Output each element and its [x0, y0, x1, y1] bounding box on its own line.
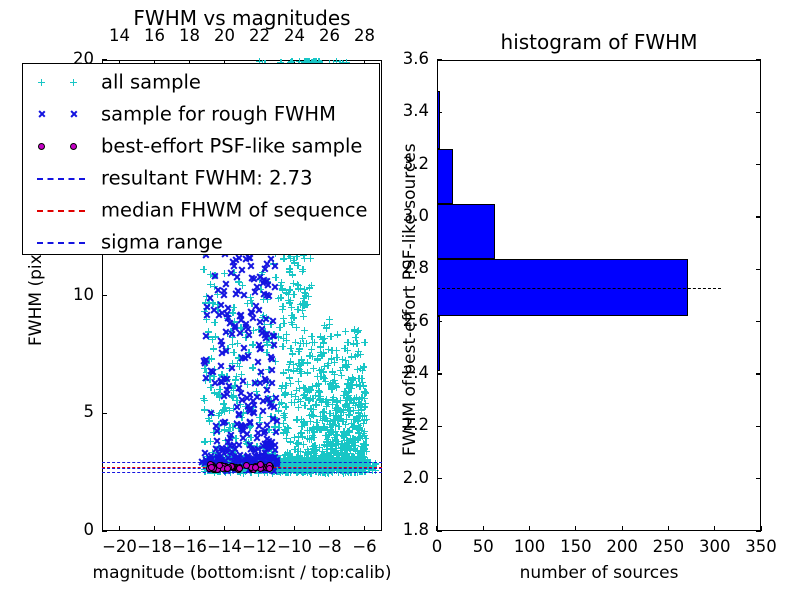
x-bottom-tick — [154, 526, 155, 531]
scatter-point-all-sample — [357, 403, 364, 410]
left-yaxis-label: FWHM (pix) — [26, 247, 46, 345]
scatter-point-all-sample — [297, 301, 304, 308]
scatter-point-all-sample — [333, 354, 340, 361]
scatter-point-all-sample — [354, 351, 361, 358]
x-bottom-tick — [364, 526, 365, 531]
x-top-tick-label: 20 — [214, 26, 235, 45]
scatter-point-all-sample — [350, 407, 357, 414]
scatter-point-all-sample — [358, 375, 365, 382]
scatter-point-all-sample — [339, 440, 346, 447]
x-bottom-tick — [329, 526, 330, 531]
scatter-point-all-sample — [281, 410, 288, 417]
x-bottom-tick-label: −16 — [172, 537, 207, 556]
scatter-point-rough-sample — [270, 283, 278, 291]
hist-x-tick-label: 300 — [699, 537, 731, 556]
scatter-point-rough-sample — [235, 384, 243, 392]
scatter-point-rough-sample — [223, 386, 231, 394]
figure-canvas: FWHM vs magnitudes1416182022242628−20−18… — [0, 0, 800, 600]
hist-y-tick-label: 3.4 — [403, 101, 429, 120]
hist-y-tick-right — [756, 164, 761, 165]
scatter-point-all-sample — [326, 421, 333, 428]
hist-x-tick-label: 250 — [653, 537, 685, 556]
scatter-point-rough-sample — [231, 290, 239, 298]
hist-y-tick-right — [756, 530, 761, 531]
scatter-point-all-sample — [295, 282, 302, 289]
scatter-point-all-sample — [221, 408, 228, 415]
scatter-point-rough-sample — [227, 364, 235, 372]
scatter-point-all-sample — [278, 385, 285, 392]
scatter-point-rough-sample — [249, 314, 257, 322]
plus-icon — [70, 79, 77, 86]
legend-label: resultant FWHM: 2.73 — [101, 167, 313, 190]
scatter-point-rough-sample — [214, 450, 222, 458]
x-top-tick-label: 26 — [319, 26, 340, 45]
scatter-point-all-sample — [319, 336, 326, 343]
scatter-point-rough-sample — [255, 306, 263, 314]
scatter-point-all-sample — [220, 400, 227, 407]
hist-x-tick — [575, 526, 576, 531]
scatter-point-all-sample — [244, 300, 251, 307]
scatter-point-all-sample — [286, 374, 293, 381]
scatter-point-rough-sample — [269, 317, 277, 325]
scatter-point-all-sample — [293, 416, 300, 423]
scatter-point-all-sample — [342, 328, 349, 335]
scatter-point-all-sample — [210, 345, 217, 352]
scatter-point-all-sample — [316, 367, 323, 374]
dot-icon — [38, 143, 45, 150]
hist-y-tick — [437, 59, 442, 60]
scatter-point-all-sample — [211, 319, 218, 326]
x-bottom-tick-label: −20 — [102, 537, 137, 556]
hist-y-tick-right — [756, 269, 761, 270]
scatter-point-all-sample — [359, 413, 366, 420]
scatter-point-rough-sample — [268, 379, 276, 387]
scatter-point-all-sample — [300, 384, 307, 391]
scatter-point-all-sample — [301, 327, 308, 334]
hist-x-tick-label: 50 — [473, 537, 494, 556]
hist-y-tick-right — [756, 321, 761, 322]
scatter-point-all-sample — [306, 352, 313, 359]
scatter-point-all-sample — [301, 391, 308, 398]
scatter-point-all-sample — [280, 315, 287, 322]
y-tick-label: 5 — [84, 402, 95, 421]
y-tick-label: 10 — [73, 285, 94, 304]
scatter-point-all-sample — [334, 331, 341, 338]
hist-x-tick-label: 350 — [745, 537, 777, 556]
scatter-point-rough-sample — [232, 273, 240, 281]
scatter-point-rough-sample — [216, 378, 224, 386]
hist-y-tick-label: 2.0 — [403, 468, 429, 487]
scatter-point-rough-sample — [268, 366, 276, 374]
legend-entry[interactable]: sample for rough FWHM — [23, 98, 379, 130]
hist-y-tick — [437, 373, 442, 374]
legend: all samplesample for rough FWHMbest-effo… — [22, 63, 380, 255]
x-bottom-tick-label: −12 — [242, 537, 277, 556]
scatter-point-rough-sample — [236, 312, 244, 320]
scatter-point-rough-sample — [221, 280, 229, 288]
x-bottom-tick — [294, 526, 295, 531]
scatter-point-all-sample — [351, 437, 358, 444]
scatter-point-all-sample — [297, 448, 304, 455]
scatter-point-all-sample — [285, 425, 292, 432]
scatter-point-rough-sample — [257, 344, 265, 352]
cross-icon — [37, 110, 45, 118]
scatter-point-all-sample — [316, 396, 323, 403]
scatter-point-rough-sample — [268, 332, 276, 340]
scatter-point-all-sample — [313, 382, 320, 389]
x-top-tick-label: 24 — [284, 26, 305, 45]
scatter-point-all-sample — [328, 347, 335, 354]
right-plot-title: histogram of FWHM — [501, 30, 698, 54]
scatter-point-rough-sample — [245, 407, 253, 415]
x-top-tick-label: 28 — [354, 26, 375, 45]
scatter-point-all-sample — [361, 432, 368, 439]
scatter-point-rough-sample — [262, 386, 270, 394]
right-yaxis-label: FWHM of best-effort PSF-like sources — [400, 143, 420, 456]
scatter-point-rough-sample — [253, 452, 261, 460]
hist-y-tick-label: 3.6 — [403, 49, 429, 68]
x-bottom-tick-label: −10 — [277, 537, 312, 556]
scatter-point-rough-sample — [241, 320, 249, 328]
x-top-tick-label: 16 — [144, 26, 165, 45]
x-bottom-tick-label: −18 — [137, 537, 172, 556]
legend-entry[interactable]: resultant FWHM: 2.73 — [23, 162, 379, 194]
scatter-point-rough-sample — [239, 434, 247, 442]
dashed-blue-line-icon — [37, 178, 85, 180]
scatter-point-rough-sample — [235, 410, 243, 418]
scatter-point-all-sample — [284, 449, 291, 456]
scatter-point-all-sample — [304, 435, 311, 442]
histogram-bar — [437, 204, 495, 259]
histogram-bar — [437, 316, 440, 371]
scatter-point-rough-sample — [267, 353, 275, 361]
scatter-point-all-sample — [346, 385, 353, 392]
scatter-point-rough-sample — [253, 358, 261, 366]
left-xaxis-label: magnitude (bottom:isnt / top:calib) — [93, 563, 392, 583]
scatter-point-all-sample — [200, 266, 207, 273]
scatter-point-rough-sample — [270, 262, 278, 270]
x-bottom-tick-label: −8 — [317, 537, 341, 556]
hist-y-tick-right — [756, 373, 761, 374]
scatter-point-all-sample — [334, 407, 341, 414]
scatter-point-rough-sample — [253, 283, 261, 291]
scatter-point-all-sample — [279, 306, 286, 313]
scatter-point-rough-sample — [237, 396, 245, 404]
scatter-point-all-sample — [295, 433, 302, 440]
scatter-point-psf-sample — [208, 464, 215, 471]
scatter-point-rough-sample — [265, 443, 273, 451]
scatter-point-all-sample — [356, 424, 363, 431]
scatter-point-psf-sample — [252, 464, 259, 471]
scatter-point-rough-sample — [271, 428, 279, 436]
x-top-tick-label: 18 — [179, 26, 200, 45]
scatter-point-all-sample — [300, 313, 307, 320]
hist-x-tick — [622, 526, 623, 531]
hist-x-tick — [529, 526, 530, 531]
scatter-point-all-sample — [318, 352, 325, 359]
scatter-point-rough-sample — [245, 419, 253, 427]
legend-label: all sample — [101, 71, 201, 94]
scatter-point-rough-sample — [217, 301, 225, 309]
scatter-point-rough-sample — [258, 407, 266, 415]
hist-y-tick-right — [756, 216, 761, 217]
histogram-bar — [437, 91, 440, 149]
scatter-point-psf-sample — [224, 465, 231, 472]
scatter-point-all-sample — [314, 373, 321, 380]
scatter-point-rough-sample — [211, 272, 219, 280]
x-top-tick-label: 14 — [109, 26, 130, 45]
hist-y-tick — [437, 426, 442, 427]
scatter-point-rough-sample — [219, 291, 227, 299]
x-bottom-tick — [119, 526, 120, 531]
scatter-point-all-sample — [330, 429, 337, 436]
scatter-point-rough-sample — [216, 362, 224, 370]
x-bottom-tick — [224, 526, 225, 531]
scatter-point-all-sample — [301, 402, 308, 409]
scatter-point-all-sample — [295, 441, 302, 448]
scatter-point-rough-sample — [249, 397, 257, 405]
scatter-point-all-sample — [296, 366, 303, 373]
scatter-point-rough-sample — [270, 341, 278, 349]
scatter-point-rough-sample — [244, 352, 252, 360]
scatter-point-all-sample — [305, 293, 312, 300]
dashdot-blue-line-icon — [37, 242, 85, 244]
legend-entry[interactable]: sigma range — [23, 226, 379, 258]
plus-icon — [38, 79, 45, 86]
scatter-point-rough-sample — [206, 294, 214, 302]
scatter-point-all-sample — [236, 363, 243, 370]
scatter-point-all-sample — [348, 420, 355, 427]
scatter-point-rough-sample — [237, 425, 245, 433]
scatter-point-rough-sample — [248, 274, 256, 282]
legend-entry[interactable]: all sample — [23, 66, 379, 98]
scatter-point-all-sample — [283, 337, 290, 344]
histogram-bar — [437, 149, 453, 204]
scatter-point-all-sample — [286, 299, 293, 306]
scatter-point-rough-sample — [270, 403, 278, 411]
scatter-point-rough-sample — [221, 328, 229, 336]
scatter-point-all-sample — [346, 395, 353, 402]
dot-icon — [70, 143, 77, 150]
hist-x-tick-label: 100 — [514, 537, 546, 556]
scatter-point-rough-sample — [262, 291, 270, 299]
scatter-point-all-sample — [329, 368, 336, 375]
scatter-point-all-sample — [201, 397, 208, 404]
hist-y-tick-right — [756, 112, 761, 113]
scatter-point-rough-sample — [212, 437, 220, 445]
x-bottom-tick-label: −6 — [352, 537, 376, 556]
hist-x-tick — [714, 526, 715, 531]
y-tick — [102, 59, 107, 60]
scatter-point-rough-sample — [217, 341, 225, 349]
cross-icon — [69, 110, 77, 118]
left-plot-title: FWHM vs magnitudes — [133, 6, 350, 30]
scatter-point-all-sample — [310, 434, 317, 441]
x-bottom-tick — [259, 526, 260, 531]
scatter-point-all-sample — [285, 366, 292, 373]
scatter-point-all-sample — [299, 266, 306, 273]
hist-x-tick-label: 200 — [606, 537, 638, 556]
scatter-point-all-sample — [344, 339, 351, 346]
legend-label: sample for rough FWHM — [101, 103, 336, 126]
scatter-point-rough-sample — [272, 417, 280, 425]
scatter-point-all-sample — [276, 324, 283, 331]
legend-label: sigma range — [101, 231, 223, 254]
scatter-point-all-sample — [287, 345, 294, 352]
legend-label: best-effort PSF-like sample — [101, 135, 362, 158]
legend-entry[interactable]: best-effort PSF-like sample — [23, 130, 379, 162]
scatter-point-rough-sample — [220, 418, 228, 426]
scatter-point-rough-sample — [212, 427, 220, 435]
hist-y-tick — [437, 530, 442, 531]
y-tick-label: 0 — [84, 520, 95, 539]
scatter-point-all-sample — [342, 431, 349, 438]
scatter-point-all-sample — [310, 424, 317, 431]
hist-x-tick — [668, 526, 669, 531]
scatter-point-rough-sample — [271, 394, 279, 402]
y-tick — [102, 295, 107, 296]
scatter-point-rough-sample — [230, 262, 238, 270]
legend-label: median FHWM of sequence — [101, 199, 367, 222]
scatter-point-all-sample — [319, 409, 326, 416]
hist-y-tick-label: 1.8 — [403, 520, 429, 539]
scatter-point-all-sample — [339, 364, 346, 371]
y-tick — [102, 530, 107, 531]
scatter-point-rough-sample — [217, 349, 225, 357]
scatter-point-rough-sample — [261, 265, 269, 273]
x-top-tick-label: 22 — [249, 26, 270, 45]
scatter-point-all-sample — [361, 339, 368, 346]
right-xaxis-label: number of sources — [520, 563, 679, 583]
scatter-point-all-sample — [326, 316, 333, 323]
sigma-range-upper-line — [102, 462, 382, 463]
scatter-point-all-sample — [328, 386, 335, 393]
scatter-point-all-sample — [288, 319, 295, 326]
scatter-point-rough-sample — [201, 356, 209, 364]
sigma-range-lower-line — [102, 472, 382, 473]
hist-y-tick-right — [756, 426, 761, 427]
scatter-point-rough-sample — [202, 332, 210, 340]
scatter-point-all-sample — [301, 419, 308, 426]
hist-y-tick-right — [756, 478, 761, 479]
legend-entry[interactable]: median FHWM of sequence — [23, 194, 379, 226]
scatter-point-rough-sample — [230, 324, 238, 332]
scatter-point-rough-sample — [203, 311, 211, 319]
scatter-point-all-sample — [358, 394, 365, 401]
scatter-point-all-sample — [359, 367, 366, 374]
scatter-point-all-sample — [286, 265, 293, 272]
scatter-point-all-sample — [358, 443, 365, 450]
hist-x-tick — [483, 526, 484, 531]
scatter-point-all-sample — [278, 279, 285, 286]
hist-resultant-fwhm-line — [437, 288, 721, 289]
scatter-point-rough-sample — [202, 374, 210, 382]
scatter-point-all-sample — [288, 391, 295, 398]
scatter-point-all-sample — [277, 294, 284, 301]
scatter-point-all-sample — [324, 439, 331, 446]
x-bottom-tick — [189, 526, 190, 531]
scatter-point-all-sample — [295, 348, 302, 355]
scatter-point-rough-sample — [245, 331, 253, 339]
y-tick — [102, 413, 107, 414]
dashed-red-line-icon — [37, 210, 85, 212]
scatter-point-all-sample — [355, 327, 362, 334]
scatter-point-all-sample — [352, 334, 359, 341]
x-bottom-tick-label: −14 — [207, 537, 242, 556]
hist-x-tick-label: 150 — [560, 537, 592, 556]
scatter-point-psf-sample — [243, 462, 250, 469]
scatter-point-rough-sample — [206, 409, 214, 417]
scatter-point-all-sample — [303, 340, 310, 347]
hist-x-tick-label: 0 — [432, 537, 443, 556]
scatter-point-all-sample — [341, 345, 348, 352]
hist-y-tick-right — [756, 59, 761, 60]
scatter-point-all-sample — [308, 411, 315, 418]
scatter-point-rough-sample — [224, 438, 232, 446]
hist-y-tick — [437, 478, 442, 479]
